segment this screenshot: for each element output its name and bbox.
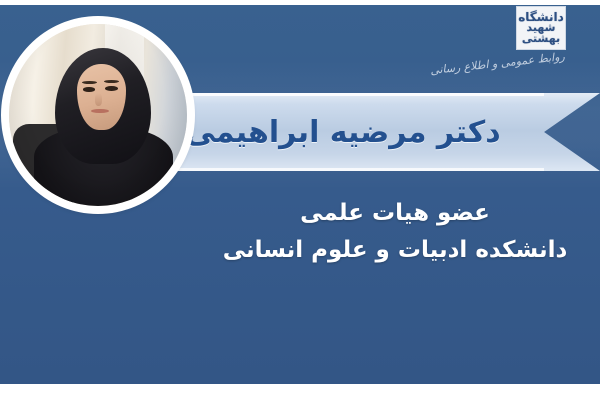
logo-line-3: بهشتی — [522, 34, 560, 44]
university-logo-mark: دانشگاه شهید بهشتی — [516, 6, 566, 50]
bottom-white-band — [0, 384, 600, 400]
portrait-circle-frame — [4, 19, 192, 211]
university-logo-calligraphy: دانشگاه شهید بهشتی — [517, 7, 565, 49]
name-ribbon: دکتر مرضیه ابراهیمی — [170, 93, 600, 171]
top-white-strip — [0, 0, 600, 5]
faculty-role: عضو هیات علمی — [190, 196, 600, 231]
faculty-department: دانشکده ادبیات و علوم انسانی — [190, 233, 600, 268]
university-logo: دانشگاه شهید بهشتی روابط عمومی و اطلاع ر… — [470, 2, 566, 84]
faculty-announcement-banner: دانشگاه شهید بهشتی روابط عمومی و اطلاع ر… — [0, 0, 600, 400]
portrait-photo — [9, 24, 187, 206]
portrait-vignette — [9, 24, 187, 206]
faculty-subtitle: عضو هیات علمی دانشکده ادبیات و علوم انسا… — [190, 196, 600, 267]
faculty-name: دکتر مرضیه ابراهیمی — [170, 93, 516, 171]
public-relations-script-caption: روابط عمومی و اطلاع رسانی — [471, 50, 568, 90]
